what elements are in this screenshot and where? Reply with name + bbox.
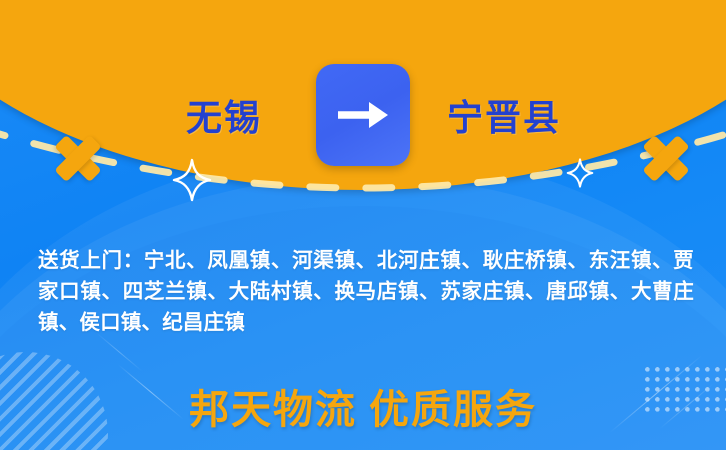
sparkle-star-icon	[172, 158, 212, 207]
sparkle-star-icon	[566, 158, 594, 193]
orange-cross-icon	[640, 132, 692, 184]
logistics-route-banner: 无锡 宁晋县 送货上门：宁北、凤凰镇、河渠镇、北河庄镇、耿庄桥镇、东汪镇、贾家口…	[0, 0, 726, 450]
arrow-right-icon	[336, 98, 390, 132]
orange-cross-icon	[52, 132, 104, 184]
company-slogan: 邦天物流 优质服务	[0, 386, 726, 434]
delivery-areas-text: 送货上门：宁北、凤凰镇、河渠镇、北河庄镇、耿庄桥镇、东汪镇、贾家口镇、四芝兰镇、…	[38, 246, 694, 339]
origin-city-label: 无锡	[186, 96, 262, 140]
route-arrow-button[interactable]	[316, 64, 410, 166]
destination-city-label: 宁晋县	[447, 96, 561, 140]
